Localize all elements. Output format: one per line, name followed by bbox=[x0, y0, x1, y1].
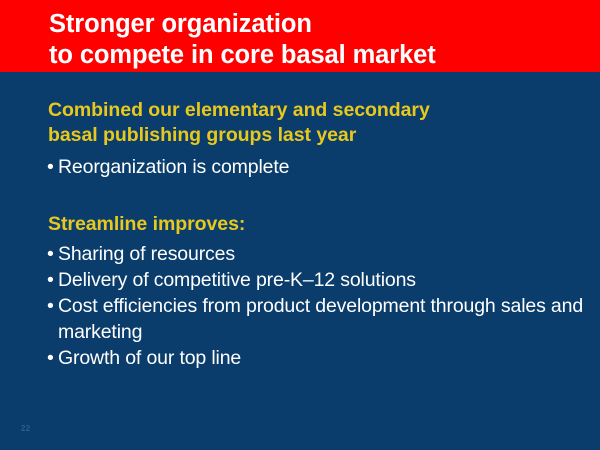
list-item: • Cost efficiencies from product develop… bbox=[0, 293, 600, 345]
list-item-label: Delivery of competitive pre-K–12 solutio… bbox=[58, 269, 416, 291]
lead-heading: Combined our elementary and secondary ba… bbox=[0, 98, 600, 148]
list-item: • Growth of our top line bbox=[0, 345, 600, 371]
list-item: • Delivery of competitive pre-K–12 solut… bbox=[0, 267, 600, 293]
bullet-marker-icon: • bbox=[47, 293, 54, 319]
slide-title: Stronger organization to compete in core… bbox=[49, 9, 589, 71]
bullet-marker-icon: • bbox=[47, 241, 54, 267]
list-item-label: Cost efficiencies from product developme… bbox=[58, 295, 583, 343]
list-item: • Sharing of resources bbox=[0, 241, 600, 267]
section-heading: Streamline improves: bbox=[0, 212, 600, 237]
bullet-marker-icon: • bbox=[47, 154, 54, 180]
list-item-label: Reorganization is complete bbox=[58, 156, 289, 178]
bullet-marker-icon: • bbox=[47, 267, 54, 293]
page-number: 22 bbox=[21, 424, 31, 433]
list-item: • Reorganization is complete bbox=[0, 154, 600, 180]
list-item-label: Sharing of resources bbox=[58, 243, 235, 265]
list-item-label: Growth of our top line bbox=[58, 347, 241, 369]
bullet-marker-icon: • bbox=[47, 345, 54, 371]
presentation-slide: Stronger organization to compete in core… bbox=[0, 0, 600, 450]
slide-body: Combined our elementary and secondary ba… bbox=[0, 98, 600, 371]
spacer bbox=[0, 180, 600, 212]
